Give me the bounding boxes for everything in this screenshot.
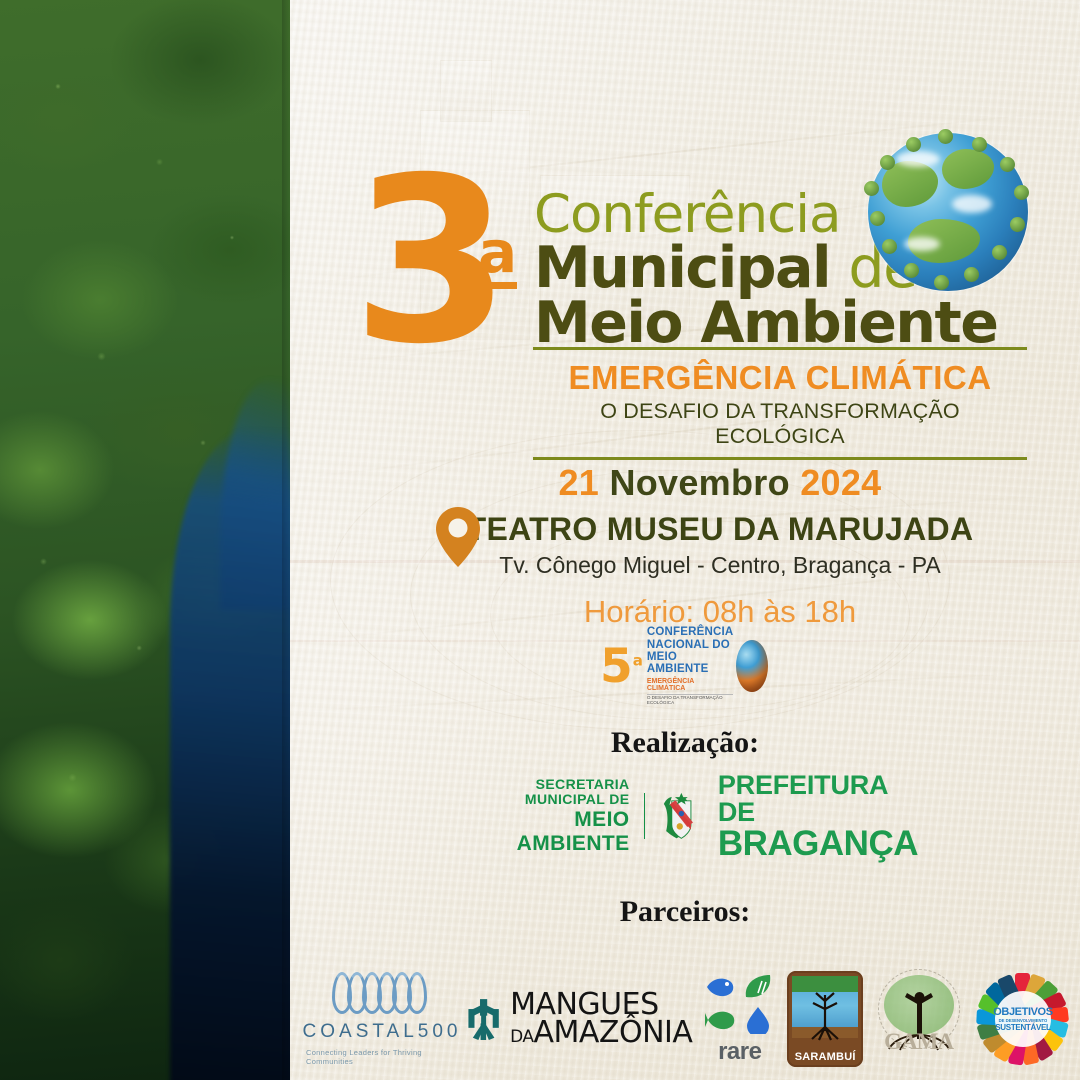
- subtitle-rule-bottom: [533, 457, 1027, 460]
- partner-logos-row: COASTAL500 Connecting Leaders for Thrivi…: [300, 962, 1078, 1076]
- partner-logo-rare: rare: [699, 973, 781, 1066]
- secretaria-line2: MEIO AMBIENTE: [468, 808, 630, 855]
- gama-name: GAMA: [870, 1029, 968, 1055]
- national-badge-number: 5a: [600, 643, 643, 690]
- prefeitura-braganca-logo: PREFEITURA DE BRAGANÇA: [718, 772, 918, 861]
- mangues-da: DA: [510, 1027, 533, 1047]
- event-date-month: Novembro: [609, 462, 789, 503]
- secretaria-meio-ambiente-logo: SECRETARIA MUNICIPAL DE MEIO AMBIENTE: [468, 777, 630, 855]
- coastal500-tagline: Connecting Leaders for Thriving Communit…: [306, 1048, 458, 1066]
- national-line-meio-ambiente: MEIO AMBIENTE: [647, 651, 734, 676]
- photo-edge-shadow: [282, 0, 290, 1080]
- event-details: 21 Novembro 2024 TEATRO MUSEU DA MARUJAD…: [400, 462, 1040, 630]
- location-pin-icon: [436, 507, 480, 567]
- river-water: [170, 430, 290, 1080]
- national-line-conferencia: CONFERÊNCIA: [647, 626, 734, 638]
- aerial-rainforest-river-photo: [0, 0, 290, 1080]
- partner-logo-coastal500: COASTAL500 Connecting Leaders for Thrivi…: [306, 972, 458, 1066]
- national-number: 5: [600, 639, 633, 694]
- national-line-nacional: NACIONAL DO: [647, 639, 734, 651]
- realizacao-logos: SECRETARIA MUNICIPAL DE MEIO AMBIENTE PR…: [468, 784, 918, 848]
- prefeitura-line1: PREFEITURA DE: [718, 772, 918, 826]
- national-badge-text: CONFERÊNCIA NACIONAL DO MEIO AMBIENTE EM…: [647, 626, 734, 706]
- realizacao-label: Realização:: [290, 726, 1080, 760]
- event-date-day: 21: [558, 462, 599, 503]
- mangrove-tree-icon: [464, 977, 503, 1061]
- partner-logo-gama: GAMA: [870, 969, 968, 1069]
- mangues-wordmark: MANGUES DAAMAZÔNIA: [510, 992, 692, 1047]
- conference-poster: 3 a Conferência Municipal de Meio Ambien…: [0, 0, 1080, 1080]
- subtitle-block: EMERGÊNCIA CLIMÁTICA O DESAFIO DA TRANSF…: [533, 347, 1027, 460]
- ods-line3: SUSTENTÁVEL: [995, 1023, 1050, 1032]
- partner-logo-sarambui: SARAMBUÍ: [787, 971, 863, 1067]
- sdg-wheel-icon: OBJETIVOS DE DESENVOLVIMENTO SUSTENTÁVEL: [995, 991, 1051, 1047]
- ods-line1: OBJETIVOS: [993, 1006, 1052, 1018]
- national-conference-badge: 5a CONFERÊNCIA NACIONAL DO MEIO AMBIENTE…: [600, 636, 768, 696]
- logo-divider: [644, 793, 646, 839]
- subtitle-desafio-transformacao: O DESAFIO DA TRANSFORMAÇÃO ECOLÓGICA: [533, 399, 1027, 449]
- event-hours: Horário: 08h às 18h: [400, 594, 1040, 630]
- edition-ordinal: a: [478, 225, 517, 289]
- national-ordinal: a: [633, 651, 643, 669]
- partner-logo-ods: OBJETIVOS DE DESENVOLVIMENTO SUSTENTÁVEL: [974, 970, 1072, 1068]
- event-date-year: 2024: [800, 462, 881, 503]
- mangues-amazonia: AMAZÔNIA: [533, 1015, 692, 1050]
- national-badge-globe-icon: [736, 640, 768, 692]
- event-date: 21 Novembro 2024: [400, 462, 1040, 504]
- fish-waves-icon: [337, 972, 427, 1014]
- event-venue: TEATRO MUSEU DA MARUJADA: [400, 511, 1040, 548]
- sarambui-name: SARAMBUÍ: [787, 1051, 863, 1063]
- fish-leaf-droplet-icon: [705, 973, 774, 1034]
- coat-of-arms-icon: [659, 785, 704, 847]
- coastal500-name: COASTAL500: [303, 1021, 462, 1043]
- national-line-desafio: O DESAFIO DA TRANSFORMAÇÃO ECOLÓGICA: [647, 694, 734, 706]
- subtitle-rule-top: [533, 347, 1027, 350]
- title-line-meio-ambiente: Meio Ambiente: [534, 297, 954, 351]
- secretaria-line1: SECRETARIA MUNICIPAL DE: [468, 777, 630, 808]
- earth-globe-with-trees-icon: [868, 133, 1028, 291]
- subtitle-emergencia-climatica: EMERGÊNCIA CLIMÁTICA: [533, 359, 1027, 397]
- rare-name: rare: [718, 1038, 761, 1066]
- event-address: Tv. Cônego Miguel - Centro, Bragança - P…: [400, 552, 1040, 579]
- prefeitura-line2: BRAGANÇA: [718, 826, 918, 861]
- partner-logo-mangues-da-amazonia: MANGUES DAAMAZÔNIA: [464, 977, 692, 1061]
- national-line-emergencia: EMERGÊNCIA CLIMÁTICA: [647, 678, 734, 693]
- mangues-line2: DAAMAZÔNIA: [510, 1020, 692, 1046]
- parceiros-label: Parceiros:: [290, 895, 1080, 929]
